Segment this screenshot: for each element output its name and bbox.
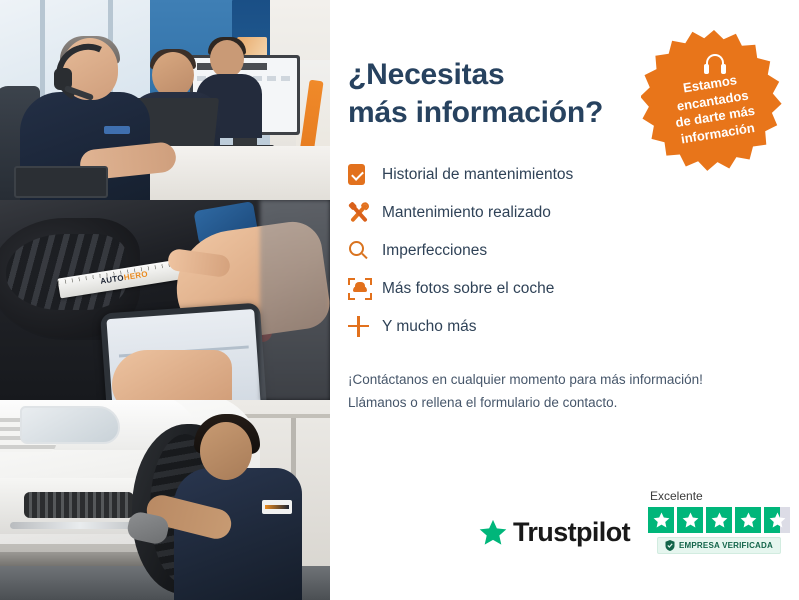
star-filled xyxy=(648,507,674,533)
star-filled xyxy=(677,507,703,533)
promo-badge: Estamos encantados de darte más informac… xyxy=(641,28,787,174)
star-rating xyxy=(648,507,790,533)
crossed-tools-icon xyxy=(348,202,382,224)
photo-call-center-agent-with-headset xyxy=(0,0,330,200)
page-title-line-1: ¿Necesitas xyxy=(348,58,504,91)
feature-label: Mantenimiento realizado xyxy=(382,204,551,222)
feature-label: Historial de mantenimientos xyxy=(382,166,573,184)
plus-icon xyxy=(348,316,382,338)
contact-line-2: Llámanos o rellena el formulario de cont… xyxy=(348,391,799,415)
contact-text: ¡Contáctanos en cualquier momento para m… xyxy=(348,368,799,415)
trustpilot-wordmark: Trustpilot xyxy=(513,517,630,548)
trustpilot-rating[interactable]: Trustpilot Excelente xyxy=(478,489,790,554)
photo-technician-checking-tire xyxy=(0,400,330,600)
feature-list: Historial de mantenimientos Mantenimient… xyxy=(348,156,799,346)
verified-shield-icon xyxy=(665,540,675,551)
content-panel: ¿Necesitas más información? Historial de… xyxy=(330,0,799,600)
trustpilot-logo[interactable]: Trustpilot xyxy=(478,517,630,554)
document-check-icon xyxy=(348,164,382,185)
magnifier-icon xyxy=(348,240,382,262)
status-badge: EMPRESA VERIFICADA xyxy=(657,537,781,554)
star-partial xyxy=(764,507,790,533)
verified-label: EMPRESA VERIFICADA xyxy=(679,541,773,550)
headset-icon xyxy=(703,54,727,76)
list-item: Y mucho más xyxy=(348,308,799,346)
photo-collage: AUTOHERO xyxy=(0,0,330,600)
star-filled xyxy=(706,507,732,533)
contact-line-1: ¡Contáctanos en cualquier momento para m… xyxy=(348,368,799,392)
trustpilot-star-icon xyxy=(478,518,508,547)
feature-label: Imperfecciones xyxy=(382,242,487,260)
rating-block: Excelente xyxy=(648,489,790,554)
list-item: Más fotos sobre el coche xyxy=(348,270,799,308)
rating-label: Excelente xyxy=(650,489,703,503)
car-photo-frame-icon xyxy=(348,278,382,300)
star-filled xyxy=(735,507,761,533)
feature-label: Más fotos sobre el coche xyxy=(382,280,554,298)
information-banner: AUTOHERO ¿Necesitas más información? xyxy=(0,0,799,600)
feature-label: Y mucho más xyxy=(382,318,476,336)
photo-inspector-measuring-car: AUTOHERO xyxy=(0,200,330,400)
list-item: Imperfecciones xyxy=(348,232,799,270)
list-item: Mantenimiento realizado xyxy=(348,194,799,232)
